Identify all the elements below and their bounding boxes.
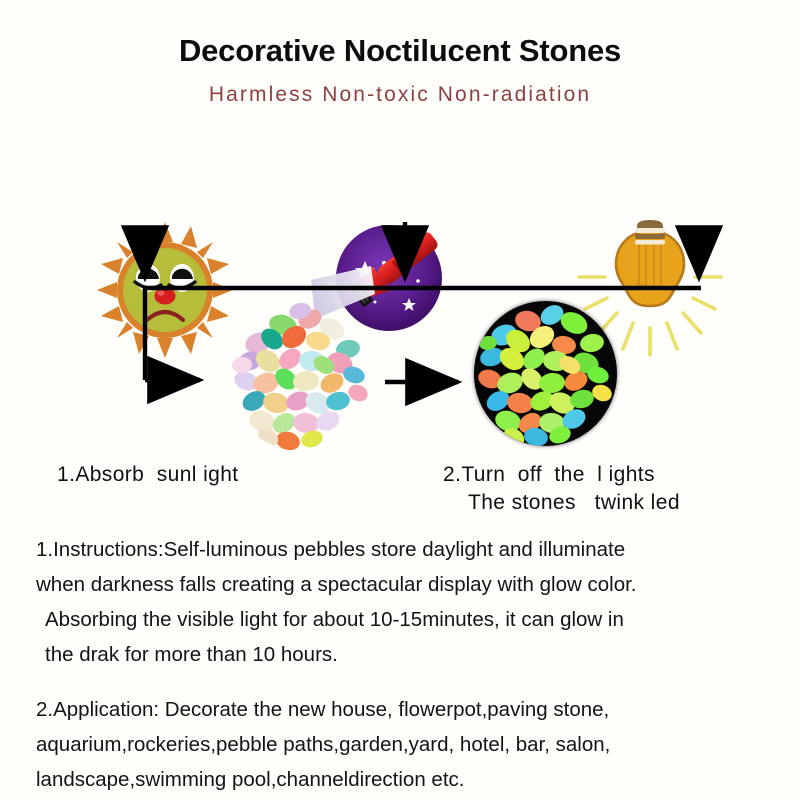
page-title: Decorative Noctilucent Stones	[0, 33, 800, 69]
light-source-icons	[0, 108, 800, 248]
instructions-line: 1.Instructions:Self-luminous pebbles sto…	[36, 532, 772, 567]
application-line: landscape,swimming pool,channeldirection…	[36, 762, 772, 797]
step-2-caption-line2: The stones twink led	[468, 491, 680, 515]
sun-icon	[95, 220, 235, 360]
instructions-line: when darkness falls creating a spectacul…	[36, 567, 772, 602]
application-paragraph: 2.Application: Decorate the new house, f…	[36, 692, 772, 797]
pastel-stones-circle	[228, 303, 373, 451]
step-2-caption-line1: 2.Turn off the l ights	[443, 463, 655, 487]
step-1-caption: 1.Absorb sunl ight	[57, 463, 239, 487]
instructions-paragraph: 1.Instructions:Self-luminous pebbles sto…	[36, 532, 772, 672]
page-subtitle: Harmless Non-toxic Non-radiation	[0, 83, 800, 107]
product-infographic: Decorative Noctilucent Stones Harmless N…	[0, 0, 800, 800]
instructions-line: Absorbing the visible light for about 10…	[36, 602, 772, 637]
application-line: aquarium,rockeries,pebble paths,garden,y…	[36, 727, 772, 762]
description-text: 1.Instructions:Self-luminous pebbles sto…	[36, 532, 772, 797]
application-line: 2.Application: Decorate the new house, f…	[36, 692, 772, 727]
instructions-line: the drak for more than 10 hours.	[36, 637, 772, 672]
glowing-stones-circle	[474, 301, 617, 446]
